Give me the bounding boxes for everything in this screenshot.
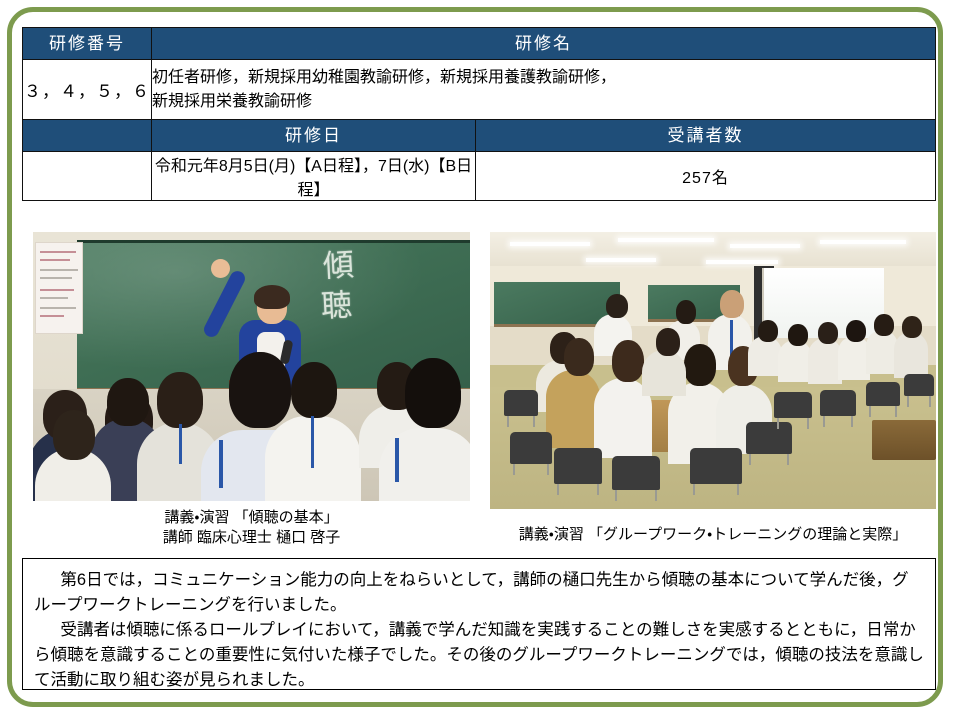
participant-head <box>564 338 594 376</box>
participant-head <box>788 324 808 346</box>
training-info-table: 研修番号 研修名 ３，４，５，６ 初任者研修，新規採用幼稚園教諭研修，新規採用養… <box>22 27 936 201</box>
photo-right-caption: 講義・演習 「グループワーク・トレーニングの理論と実際」 <box>480 525 946 545</box>
participant-head <box>157 372 203 428</box>
chair <box>774 392 812 418</box>
photo-left-caption: 講義・演習 「傾聴の基本」 講師 臨床心理士 樋口 啓子 <box>33 508 470 549</box>
table-header-row-2: 研修日 受講者数 <box>23 120 936 152</box>
document-page: 研修番号 研修名 ３，４，５，６ 初任者研修，新規採用幼稚園教諭研修，新規採用養… <box>0 0 960 720</box>
description-textbox: 第6日では，コミュニケーション能力の向上をねらいとして，講師の樋口先生から傾聴の… <box>22 558 936 690</box>
participant-lanyard <box>311 416 314 468</box>
header-training-date-right: 研修日 受講者数 <box>152 120 936 152</box>
header-training-date: 研修日 <box>152 120 476 151</box>
participant-shirt <box>748 336 782 376</box>
participant-head <box>902 316 922 338</box>
table-header-row-1: 研修番号 研修名 <box>23 28 936 60</box>
participant-head <box>53 410 95 460</box>
participant-shirt <box>808 338 842 384</box>
ceiling-light <box>730 244 800 248</box>
participant-head <box>676 300 696 324</box>
participant-head <box>656 328 680 356</box>
chair <box>690 448 742 484</box>
lecturer-hand <box>211 259 230 278</box>
participant-lanyard <box>179 424 182 464</box>
participant-head <box>684 344 716 386</box>
participant-head <box>846 320 866 342</box>
participant-shoulders <box>379 428 470 501</box>
chalkboard-kanji-1: 傾 <box>322 249 355 283</box>
cell-training-name: 初任者研修，新規採用幼稚園教諭研修，新規採用養護教諭研修， 新規採用栄養教諭研修 <box>152 60 936 120</box>
cell-training-number: ３，４，５，６ <box>23 60 152 120</box>
chair <box>866 382 900 406</box>
participant-head <box>612 340 644 382</box>
ceiling-light <box>586 258 656 262</box>
participant-head <box>229 352 291 428</box>
description-paragraph-2: 受講者は傾聴に係るロールプレイにおいて，講義で学んだ知識を実践することの難しさを… <box>34 618 924 693</box>
ceiling-light <box>706 260 778 264</box>
header-training-number: 研修番号 <box>23 28 152 60</box>
lecturer-hair <box>254 285 290 309</box>
chair <box>904 374 934 396</box>
participant-shirt <box>894 332 928 378</box>
chair <box>510 432 552 464</box>
cell-training-date-left <box>23 152 152 201</box>
photo-group-work-training <box>490 232 936 509</box>
ceiling-light <box>820 240 906 244</box>
participant-lanyard <box>219 440 223 488</box>
participant-head <box>818 322 838 344</box>
ceiling-light <box>618 238 714 242</box>
header-participant-count: 受講者数 <box>476 120 936 151</box>
chair <box>504 390 538 416</box>
participant-head <box>758 320 778 342</box>
wall-poster <box>35 242 83 334</box>
table-row: 令和元年8月5日(月)【A日程】，7日(水)【B日程】 257名 <box>23 152 936 201</box>
participant-lanyard <box>395 438 399 482</box>
table-row: ３，４，５，６ 初任者研修，新規採用幼稚園教諭研修，新規採用養護教諭研修， 新規… <box>23 60 936 120</box>
chair <box>612 456 660 490</box>
cell-training-date: 令和元年8月5日(月)【A日程】，7日(水)【B日程】 <box>152 152 476 200</box>
cell-training-date-right: 令和元年8月5日(月)【A日程】，7日(水)【B日程】 257名 <box>152 152 936 201</box>
participant-head <box>874 314 894 336</box>
participant-shirt <box>778 340 812 382</box>
participant-shirt <box>642 350 686 396</box>
participant-shirt <box>546 370 600 448</box>
chair <box>554 448 602 484</box>
participant-head <box>107 378 149 426</box>
facilitator-head <box>720 290 744 318</box>
photo-lecture-listening-basics: 傾 聴 <box>33 232 470 501</box>
header-training-date-left <box>23 120 152 152</box>
cell-participant-count: 257名 <box>476 152 936 200</box>
chalkboard-kanji-2: 聴 <box>320 289 353 323</box>
chair <box>746 422 792 454</box>
ceiling-light <box>510 242 590 246</box>
participant-head <box>606 294 628 318</box>
participant-head <box>291 362 337 418</box>
chair <box>820 390 856 416</box>
participant-head <box>405 358 461 428</box>
description-paragraph-1: 第6日では，コミュニケーション能力の向上をねらいとして，講師の樋口先生から傾聴の… <box>34 568 924 618</box>
header-training-name: 研修名 <box>152 28 936 60</box>
group-work-table <box>872 420 936 460</box>
